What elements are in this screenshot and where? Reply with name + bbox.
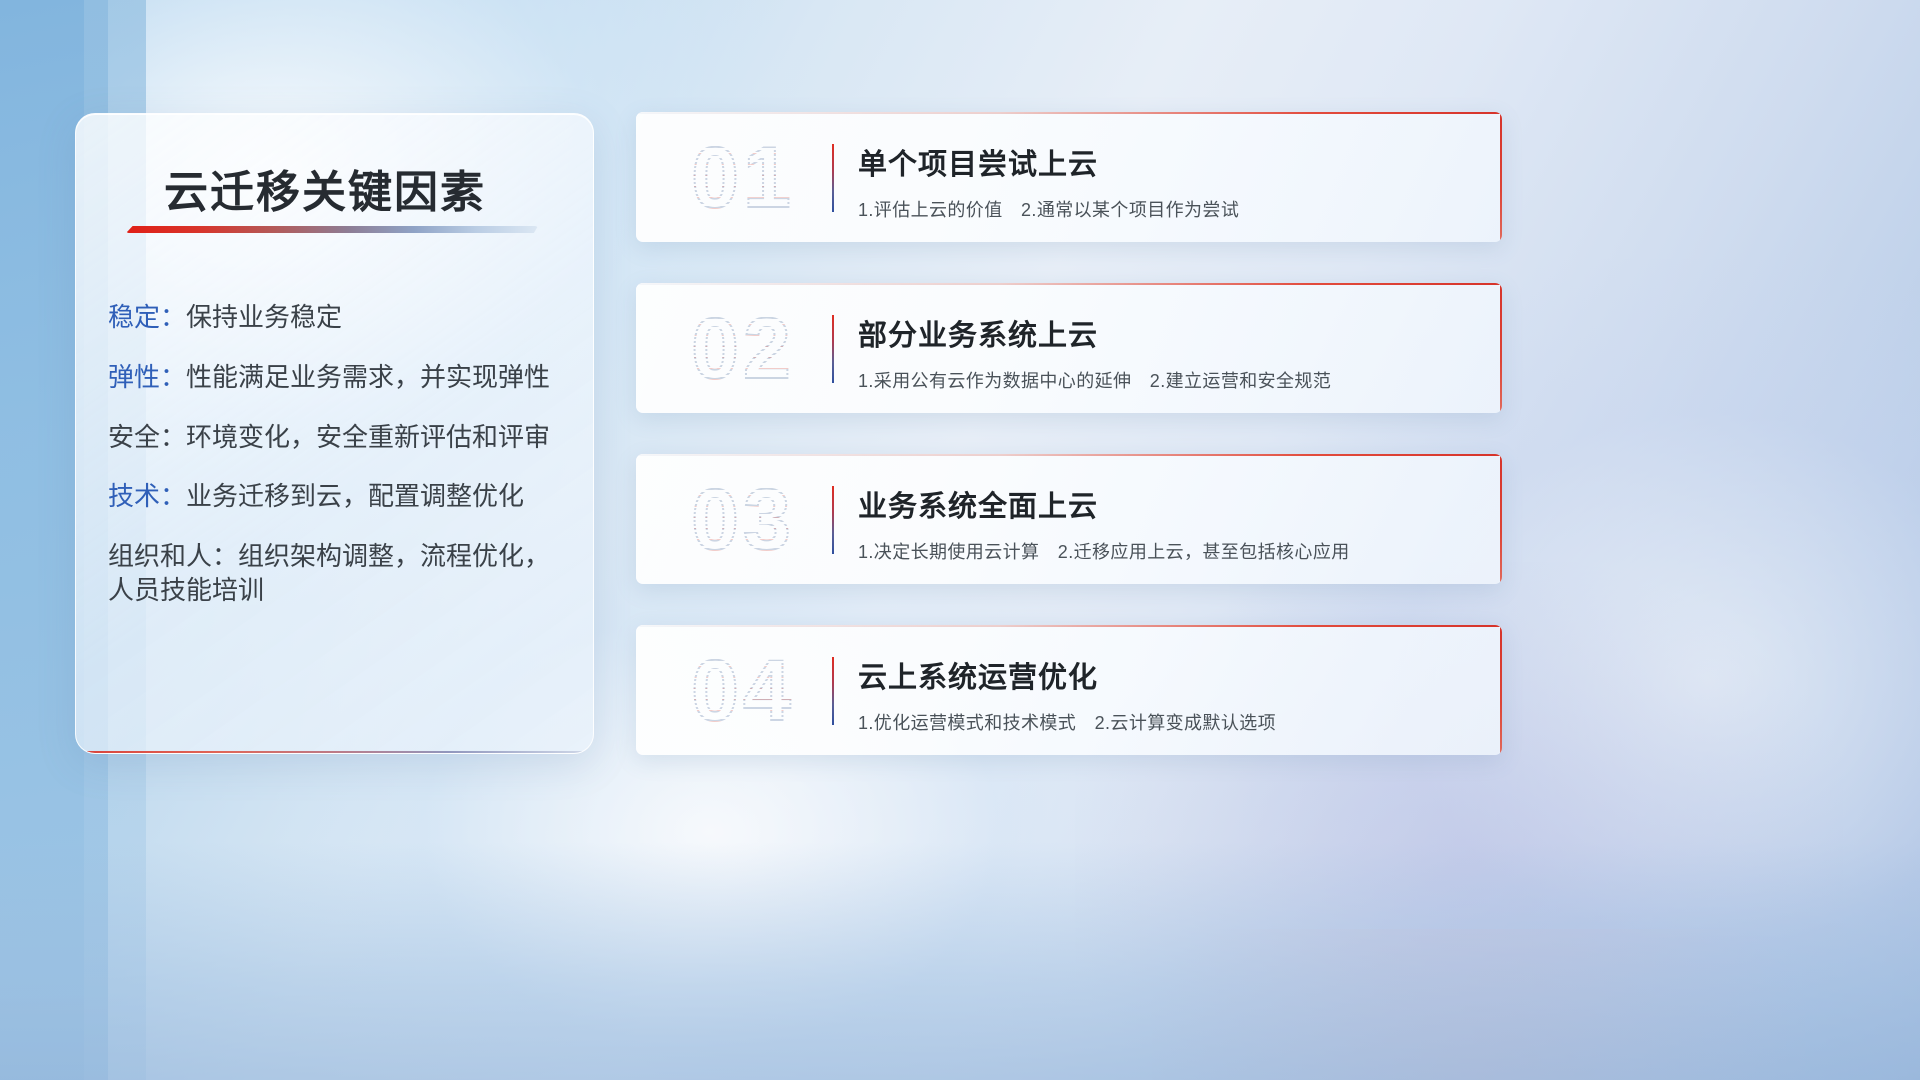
list-item: 弹性：性能满足业务需求，并实现弹性 [108,361,573,395]
page-title: 云迁移关键因素 [164,156,486,220]
stage-divider-accent [832,315,834,383]
list-item-label: 安全： [108,422,186,452]
list-item-label: 弹性： [108,362,186,392]
stage-divider-accent [832,657,834,725]
stage-divider-accent [832,144,834,212]
stage-card[interactable]: 04 04 云上系统运营优化 1.优化运营模式和技术模式 2.云计算变成默认选项 [636,625,1502,755]
stage-number-tint: 01 [658,126,828,230]
key-factors-list: 稳定：保持业务稳定 弹性：性能满足业务需求，并实现弹性 安全：环境变化，安全重新… [108,301,573,634]
list-item: 稳定：保持业务稳定 [108,301,573,335]
stage-divider-accent [832,486,834,554]
title-underline-accent [126,226,538,233]
stage-number-tint: 04 [658,639,828,743]
stage-title: 业务系统全面上云 [858,483,1098,525]
stage-title: 单个项目尝试上云 [858,141,1098,183]
list-item-label: 组织和人： [108,541,238,571]
stage-number-tint: 03 [658,468,828,572]
migration-stages-list: 01 01 单个项目尝试上云 1.评估上云的价值 2.通常以某个项目作为尝试 0… [636,112,1502,796]
stage-subtitle: 1.评估上云的价值 2.通常以某个项目作为尝试 [858,196,1239,222]
stage-card[interactable]: 03 03 业务系统全面上云 1.决定长期使用云计算 2.迁移应用上云，甚至包括… [636,454,1502,584]
stage-number-tint: 02 [658,297,828,401]
stage-subtitle: 1.优化运营模式和技术模式 2.云计算变成默认选项 [858,709,1276,735]
stage-subtitle: 1.决定长期使用云计算 2.迁移应用上云，甚至包括核心应用 [858,538,1350,564]
list-item-text: 性能满足业务需求，并实现弹性 [186,362,550,392]
stage-subtitle: 1.采用公有云作为数据中心的延伸 2.建立运营和安全规范 [858,367,1331,393]
list-item: 安全：环境变化，安全重新评估和评审 [108,421,573,455]
stage-title: 云上系统运营优化 [858,654,1098,696]
stage-card[interactable]: 01 01 单个项目尝试上云 1.评估上云的价值 2.通常以某个项目作为尝试 [636,112,1502,242]
list-item-text: 业务迁移到云，配置调整优化 [186,481,524,511]
list-item: 技术：业务迁移到云，配置调整优化 [108,480,573,514]
stage-card[interactable]: 02 02 部分业务系统上云 1.采用公有云作为数据中心的延伸 2.建立运营和安… [636,283,1502,413]
key-factors-panel: 云迁移关键因素 稳定：保持业务稳定 弹性：性能满足业务需求，并实现弹性 安全：环… [75,113,594,754]
list-item-label: 技术： [108,481,186,511]
slide-stage: 云迁移关键因素 稳定：保持业务稳定 弹性：性能满足业务需求，并实现弹性 安全：环… [0,0,1920,1080]
stage-title: 部分业务系统上云 [858,312,1098,354]
list-item-text: 保持业务稳定 [186,302,342,332]
list-item-label: 稳定： [108,302,186,332]
list-item: 组织和人：组织架构调整，流程优化，人员技能培训 [108,540,573,608]
list-item-text: 环境变化，安全重新评估和评审 [186,422,550,452]
